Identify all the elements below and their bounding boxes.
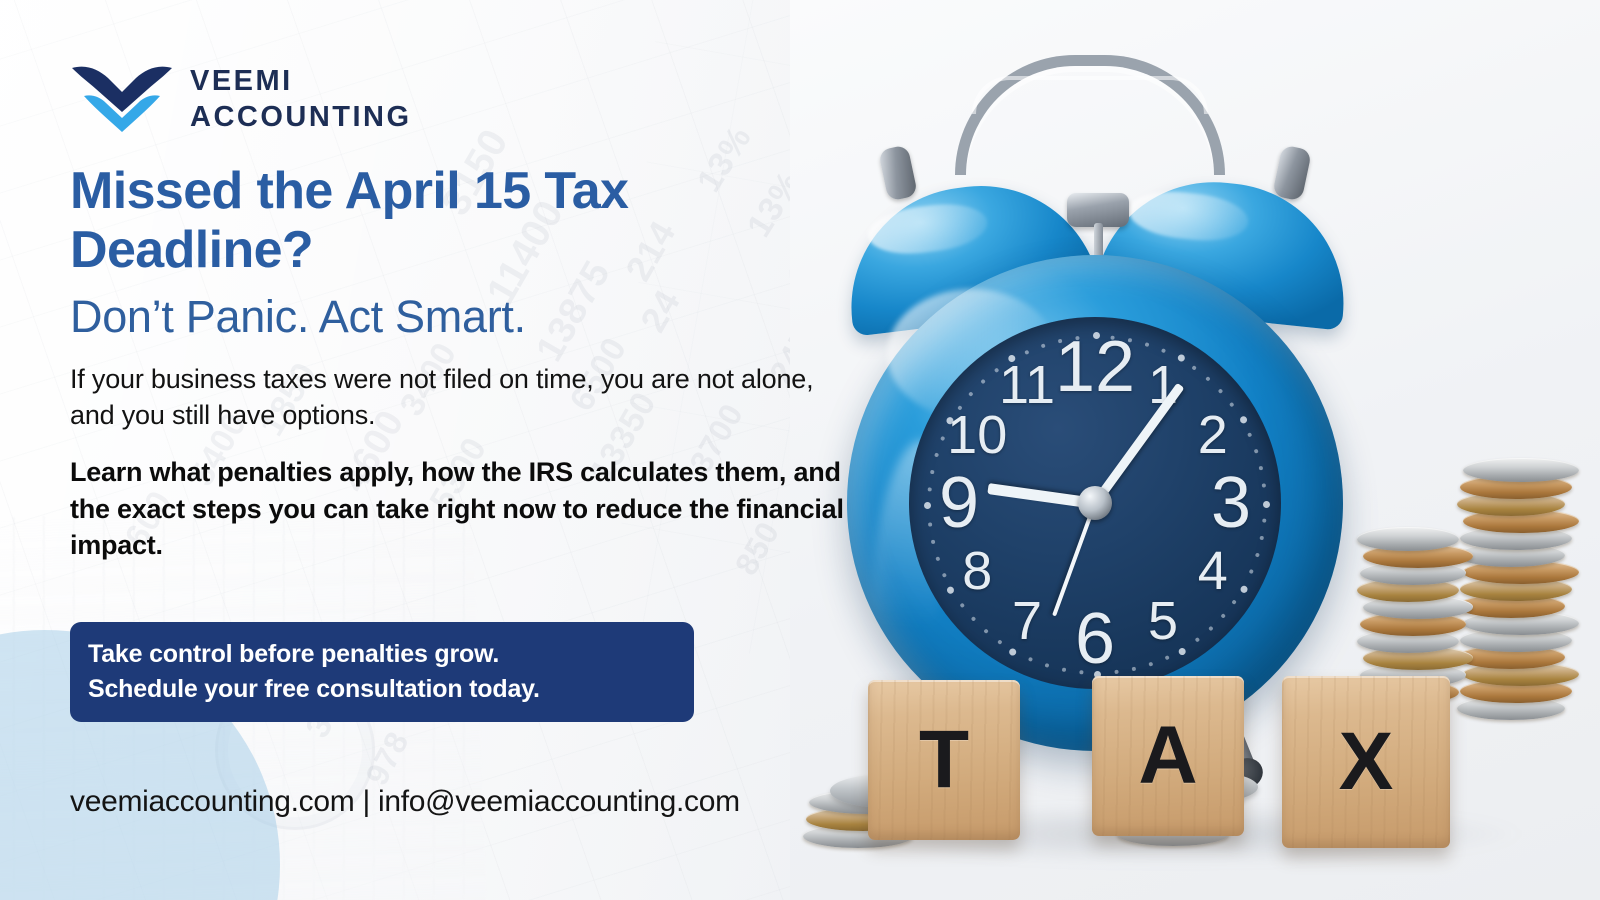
clock-numeral-11: 11 [999,358,1055,412]
clock-tick [1262,483,1266,487]
clock-tick [940,436,945,441]
clock-numeral-8: 8 [962,544,992,598]
clock-tick [1231,599,1237,605]
alarm-clock-icon: 121234567891011 [835,55,1355,735]
tax-tile-x: X [1282,676,1450,848]
coin [1463,458,1579,482]
body-paragraph: If your business taxes were not filed on… [70,361,860,434]
copy-block: Missed the April 15 Tax Deadline? Don’t … [70,162,860,564]
clock-tick [1220,613,1226,619]
hero-photo: 121234567891011 T A X [790,0,1600,900]
clock-numeral-12: 12 [1055,331,1135,403]
clock-tick [1041,343,1046,348]
cta-line-2: Schedule your free consultation today. [88,672,676,708]
clock-tick [1239,585,1249,595]
clock-tick [934,452,939,457]
marketing-banner: 4 5 2 3 0000 ON 3150 11400 13875 13% 13%… [0,0,1600,900]
clock-tick [1254,449,1259,454]
cta-banner[interactable]: Take control before penalties grow. Sche… [70,622,694,722]
clock-tick [1239,415,1249,425]
clock-tick [1249,569,1254,574]
clock-tick [1205,376,1211,382]
clock-numeral-10: 10 [947,408,1007,462]
clock-tick [1024,350,1029,355]
coin [1357,527,1459,551]
clock-numeral-5: 5 [1148,594,1178,648]
clock-tick [1161,348,1166,353]
tax-tile-a: A [1092,676,1244,836]
clock-tick [1262,518,1266,522]
brand-logo[interactable]: VEEMI ACCOUNTING [70,60,412,138]
clock-tick [946,585,956,595]
clock-tick [942,573,947,578]
clock-tick [980,379,986,385]
tax-tile-letter: X [1339,721,1394,803]
tax-tile-t: T [868,680,1020,840]
clock-tick [1144,342,1149,347]
clock-numeral-9: 9 [939,467,979,539]
clock-handle [955,55,1225,175]
clock-numeral-2: 2 [1198,408,1228,462]
clock-handle-stud-left [878,144,918,201]
brand-logo-type: VEEMI ACCOUNTING [190,67,412,132]
clock-numeral-7: 7 [1012,594,1042,648]
clock-tick [959,603,965,609]
clock-tick [931,540,936,545]
footer-contact[interactable]: veemiaccounting.com | info@veemiaccounti… [70,785,740,819]
clock-handle-stud-right [1272,144,1312,201]
clock-tick [928,487,932,491]
clock-tick [1263,501,1270,508]
clock-tick [1259,466,1264,471]
brand-name-line1: VEEMI [190,67,412,96]
headline: Missed the April 15 Tax Deadline? [70,162,860,280]
subheadline: Don’t Panic. Act Smart. [70,292,860,342]
clock-tick [1208,626,1214,632]
clock-tick [930,470,935,475]
clock-tick [924,502,931,509]
tax-tile-letter: T [919,719,969,801]
clock-hammer [1067,193,1129,227]
clock-tick [1191,365,1197,371]
clock-tick [971,616,977,622]
clock-face: 121234567891011 [909,317,1281,689]
clock-tick [1247,432,1252,437]
clock-tick [1229,402,1235,408]
veemi-v-chevron-logo-icon [70,60,174,138]
clock-pivot [1078,486,1112,520]
tax-tile-letter: A [1138,715,1197,797]
clock-tick [935,556,940,561]
body-paragraph-emphasis: Learn what penalties apply, how the IRS … [70,454,860,564]
clock-numeral-4: 4 [1198,544,1228,598]
clock-tick [1255,552,1260,557]
clock-tick [1218,388,1224,394]
clock-tick [968,391,974,397]
clock-tick [1259,536,1264,541]
clock-numeral-3: 3 [1211,467,1251,539]
clock-tick [928,522,932,526]
clock-tick [983,628,989,634]
tax-letter-tiles: T A X [830,642,1530,842]
brand-name-line2: ACCOUNTING [190,103,412,132]
cta-line-1: Take control before penalties grow. [88,637,676,673]
